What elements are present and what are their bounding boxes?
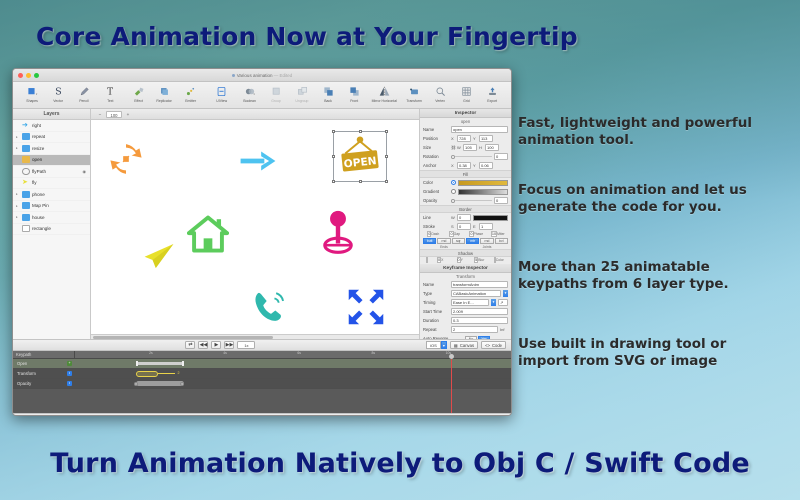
toolbar-button-ungroup[interactable]: Ungroup xyxy=(289,84,315,103)
effect-icon xyxy=(133,84,145,98)
marketing-bullet-3: More than 25 animatablekeypaths from 6 l… xyxy=(518,259,729,292)
kf-row-name: Name transformAnim xyxy=(420,280,511,289)
toolbar-label: Pencil xyxy=(79,99,88,103)
line-w-axis: W xyxy=(451,215,455,220)
replicator-icon xyxy=(159,84,170,98)
timeline-row-label: Open xyxy=(17,361,27,366)
ends-caption: Ends xyxy=(423,245,465,249)
toolbar-label: Back xyxy=(324,99,332,103)
chevron-down-icon[interactable]: ▾ xyxy=(491,299,496,306)
toolbar-button-group[interactable]: Group xyxy=(263,84,289,103)
status-bar: Total Duration: 16 mins 40.0 secs Presen… xyxy=(13,413,511,416)
rotation-field[interactable]: 0 xyxy=(494,153,508,160)
rewind-button[interactable]: ◀◀ xyxy=(198,341,208,349)
layer-item-right[interactable]: ➔ right xyxy=(13,120,90,132)
inspector-row-anchor: Anchor X 0.38 Y 0.06 xyxy=(420,161,511,170)
toolbar-button-effect[interactable]: Effect xyxy=(126,84,152,103)
ruler-mark: 8s xyxy=(371,351,375,355)
marketing-bullet-4: Use built in drawing tool orimport from … xyxy=(518,336,726,369)
stroke-e-axis: E xyxy=(473,224,477,229)
play-button[interactable]: ▶ xyxy=(211,341,221,349)
kf-auto-reverse-label: Auto Reverse xyxy=(423,336,463,339)
layer-item-fly[interactable]: ➤ fly xyxy=(13,178,90,190)
forward-button[interactable]: ▶▶ xyxy=(224,341,234,349)
lock-icon xyxy=(22,156,30,163)
selection-box xyxy=(333,131,387,182)
keypath-column-header: Keypath xyxy=(13,351,75,358)
grid-icon xyxy=(461,84,472,98)
border-caps-joints-row: butt rnd sqr mtr rnd bvl xyxy=(420,237,511,245)
axis-y-label: Y xyxy=(473,136,477,141)
keyframe-badge[interactable]: • xyxy=(67,381,72,386)
mirror-horizontal-icon xyxy=(378,84,391,98)
inspector-row-position: Position X 728 Y 113 xyxy=(420,134,511,143)
open-sign-shape[interactable]: OPEN xyxy=(337,134,383,179)
toolbar-group-tools: Transform Vertex Grid Export xyxy=(401,84,505,103)
window-titlebar: Various animation — Edited xyxy=(13,69,511,82)
bottom-headline: Turn Animation Natively to Obj C / Swift… xyxy=(0,448,800,479)
layer-label: phone xyxy=(32,192,45,197)
transform-icon xyxy=(409,84,420,98)
layers-panel: Layers ➔ right ▸ repeat ▸ resize open xyxy=(13,109,91,339)
toolbar-group-effects: Effect Replicator Emitter xyxy=(126,84,204,103)
shadow-x-caption: X xyxy=(441,258,443,262)
shadow-y-stepper[interactable]: 0Y xyxy=(451,257,470,263)
export-icon xyxy=(487,84,498,98)
keyframe-inspector-header: Keyframe Inspector xyxy=(420,264,511,273)
code-icon: <> xyxy=(485,342,490,349)
toolbar-button-pencil[interactable]: Pencil xyxy=(71,84,97,103)
stroke-s-axis: S xyxy=(451,224,455,229)
arrow-layer-icon: ➔ xyxy=(22,122,30,129)
toolbar-label: Front xyxy=(350,99,358,103)
border-color-swatch[interactable] xyxy=(473,215,508,221)
joint-round[interactable]: rnd xyxy=(480,238,493,244)
size-h-field[interactable]: 100 xyxy=(485,144,499,151)
timeline-header: Keypath 2s 4s 6s 8s 10s xyxy=(13,351,511,359)
toolbar-label: Emitter xyxy=(185,99,196,103)
miter-stepper[interactable]: 10Miter xyxy=(488,231,509,237)
toolbar-label: Replicator xyxy=(157,99,172,103)
layer-label: resize xyxy=(32,146,44,151)
toolbar-button-emitter[interactable]: Emitter xyxy=(178,84,204,103)
size-w-field[interactable]: 105 xyxy=(463,144,477,151)
position-y-field[interactable]: 113 xyxy=(479,135,493,142)
add-keyframe-badge[interactable]: + xyxy=(67,361,72,366)
inspector-row-rotation: Rotation 0 xyxy=(420,152,511,161)
disclosure-icon[interactable]: ▸ xyxy=(16,146,20,150)
gradient-radio[interactable] xyxy=(451,189,456,194)
opacity-slider[interactable] xyxy=(451,198,492,203)
kf-timing-select[interactable]: Ease In E... xyxy=(451,299,489,306)
keyframe-badge[interactable]: • xyxy=(67,371,72,376)
rotation-slider[interactable] xyxy=(451,154,492,159)
inspector-row-stroke: Stroke S 0 E 1 xyxy=(420,222,511,231)
anchor-y-field[interactable]: 0.06 xyxy=(479,162,493,169)
toolbar-group-arrange: Boolean Group Ungroup Back xyxy=(237,84,401,103)
phase-caption: Phase xyxy=(474,232,484,236)
gap-caption: Gap xyxy=(454,232,460,236)
loop-button[interactable]: ⇄ xyxy=(185,341,195,349)
canvas-button-label: Canvas xyxy=(460,342,474,349)
axis-x-label: X xyxy=(451,163,455,168)
toolbar-button-back[interactable]: Back xyxy=(315,84,341,103)
layer-item-house[interactable]: ▸ house xyxy=(13,212,90,224)
main-content: Layers ➔ right ▸ repeat ▸ resize open xyxy=(13,109,511,339)
zoom-value[interactable]: 100 xyxy=(106,111,122,118)
kf-duration-label: Duration xyxy=(423,318,449,323)
shadow-enable-checkbox[interactable] xyxy=(423,257,430,263)
phone-shape[interactable] xyxy=(251,288,291,327)
right-arrow-shape[interactable] xyxy=(239,148,277,175)
vertex-icon xyxy=(435,84,446,98)
end-cap-round[interactable]: rnd xyxy=(437,238,450,244)
timeline-track[interactable]: ◦ ◦ xyxy=(75,379,511,388)
house-shape[interactable] xyxy=(187,214,229,255)
ruler-mark: 6s xyxy=(297,351,301,355)
toolbar-button-transform[interactable]: Transform xyxy=(401,84,427,103)
toolbar-button-vector[interactable]: S Vector xyxy=(45,84,71,103)
chevron-down-icon[interactable]: ▾ xyxy=(441,341,447,349)
toolbar-button-text[interactable]: T Text xyxy=(97,84,123,103)
name-label: Name xyxy=(423,127,449,132)
toolbar-button-boolean[interactable]: Boolean xyxy=(237,84,263,103)
zoom-in-button[interactable]: + xyxy=(125,112,131,117)
layer-item-map-pin[interactable]: ▸ Map Pin xyxy=(13,201,90,213)
kf-repeat-label: Repeat xyxy=(423,327,449,332)
map-pin-shape[interactable] xyxy=(323,208,353,257)
kf-timing-label: Timing xyxy=(423,300,449,305)
design-canvas[interactable]: OPEN xyxy=(91,120,419,339)
kf-name-label: Name xyxy=(423,282,449,287)
toolbar-button-front[interactable]: Front xyxy=(341,84,367,103)
folder-icon xyxy=(22,191,30,198)
timeline-row-name: Opacity • xyxy=(13,381,75,386)
kf-type-label: Type xyxy=(423,291,449,296)
size-label: Size xyxy=(423,145,449,150)
layer-label: open xyxy=(32,157,42,162)
layer-item-flypath[interactable]: flyPath ◉ xyxy=(13,166,90,178)
folder-icon xyxy=(22,202,30,209)
ungroup-icon xyxy=(297,84,308,98)
toolbar-button-uiview[interactable]: UIView xyxy=(209,84,235,103)
stroke-start-field[interactable]: 0 xyxy=(457,223,471,230)
toolbar-label: Text xyxy=(107,99,113,103)
repeat-arrows-shape[interactable] xyxy=(109,142,143,177)
timeline-track[interactable] xyxy=(75,359,511,368)
inspector-row-name: Name open xyxy=(420,125,511,134)
boolean-icon xyxy=(244,84,256,98)
fill-color-swatch[interactable] xyxy=(458,180,508,186)
toolbar-label: UIView xyxy=(216,99,227,103)
keyframe-dot[interactable]: ◦ xyxy=(180,382,184,386)
toolbar-button-replicator[interactable]: Replicator xyxy=(152,84,178,103)
end-cap-square[interactable]: sqr xyxy=(452,238,465,244)
border-captions: Ends Joints xyxy=(420,245,511,249)
timeline-span-bar[interactable] xyxy=(136,362,184,365)
color-label: Color xyxy=(423,180,449,185)
playhead[interactable] xyxy=(451,359,452,413)
kf-row-duration: Duration 0.3 xyxy=(420,316,511,325)
axis-w-label: W xyxy=(457,145,461,150)
canvas-column: − 100 + xyxy=(91,109,419,339)
timeline-track[interactable]: 2 xyxy=(75,369,511,378)
kf-row-timing: Timing Ease In E... ▾ ↗ xyxy=(420,298,511,307)
dash-stepper[interactable]: 0Dash xyxy=(423,231,444,237)
kf-row-start-time: Start Time 2.009 xyxy=(420,307,511,316)
axis-x-label: X xyxy=(451,136,455,141)
rotation-label: Rotation xyxy=(423,154,449,159)
disclosure-icon[interactable]: ▸ xyxy=(16,192,20,196)
kf-type-select[interactable]: CABasicAnimation xyxy=(451,290,501,297)
svg-text:T: T xyxy=(107,87,113,97)
axis-h-label: H xyxy=(479,145,483,150)
timeline-ruler[interactable]: 2s 4s 6s 8s 10s xyxy=(75,351,511,358)
shadow-color-caption: Color xyxy=(496,258,504,262)
toolbar-label: Effect xyxy=(134,99,143,103)
position-label: Position xyxy=(423,136,449,141)
window-title: Various animation — Edited xyxy=(13,73,511,78)
shadow-row: 0X 0Y 5Blur Color xyxy=(420,257,511,263)
keyframe-dot[interactable]: ◦ xyxy=(134,382,138,386)
layer-label: flyPath xyxy=(32,169,46,174)
toolbar-label: Mirror Horizontal xyxy=(371,99,396,103)
inspector-subject: open xyxy=(420,118,511,125)
stroke-label: Stroke xyxy=(423,224,449,229)
timeline-panel: Keypath 2s 4s 6s 8s 10s Open + Trans xyxy=(13,351,511,413)
layers-header: Layers xyxy=(13,109,90,120)
toolbar-button-export[interactable]: Export xyxy=(479,84,505,103)
layer-item-repeat[interactable]: ▸ repeat xyxy=(13,132,90,144)
disclosure-icon[interactable]: ▸ xyxy=(16,215,20,219)
fly-icon: ➤ xyxy=(22,179,30,186)
keyframe-marker[interactable] xyxy=(136,371,158,377)
inspector-header: Inspector xyxy=(420,109,511,118)
layer-item-resize[interactable]: ▸ resize xyxy=(13,143,90,155)
gradient-label: Gradient xyxy=(423,189,449,194)
opacity-span-bar[interactable] xyxy=(136,381,184,386)
phase-stepper[interactable]: 0Phase xyxy=(466,231,487,237)
kf-row-type: Type CABasicAnimation ▾ xyxy=(420,289,511,298)
folder-icon xyxy=(22,133,30,140)
dash-caption: Dash xyxy=(431,232,439,236)
timeline-row-transform[interactable]: Transform • 2 xyxy=(13,369,511,379)
app-window: Various animation — Edited Shapes S Vect… xyxy=(12,68,512,416)
inspector-row-size: Size ⛓ W 105 H 100 xyxy=(420,143,511,152)
resize-arrows-shape[interactable] xyxy=(347,288,385,327)
toolbar-group-uiview: UIView xyxy=(209,84,235,103)
platform-select[interactable]: iOS ▾ xyxy=(426,341,447,349)
timing-curve-button[interactable]: ↗ xyxy=(498,299,508,306)
inspector-panel: Inspector open Name open Position X 728 … xyxy=(419,109,511,339)
border-section-header: Border xyxy=(420,205,511,213)
speed-select[interactable]: 1x xyxy=(237,341,255,349)
canvas-horizontal-scrollbar[interactable] xyxy=(91,334,419,339)
shadow-blur-caption: Blur xyxy=(478,258,484,262)
toolbar-button-grid[interactable]: Grid xyxy=(453,84,479,103)
toolbar-button-vertex[interactable]: Vertex xyxy=(427,84,453,103)
auto-reverse-no[interactable]: No xyxy=(465,336,477,340)
inspector-row-color: Color xyxy=(420,178,511,187)
line-width-field[interactable]: 0 xyxy=(457,214,471,221)
toolbar-label: Ungroup xyxy=(295,99,308,103)
group-icon xyxy=(271,84,282,98)
anchor-x-field[interactable]: 0.38 xyxy=(457,162,471,169)
toolbar-button-mirror-horizontal[interactable]: Mirror Horizontal xyxy=(367,84,401,103)
anchor-label: Anchor xyxy=(423,163,449,168)
inspector-row-opacity: Opacity 0 xyxy=(420,196,511,205)
shadow-section-header: Shadow xyxy=(420,249,511,257)
shadow-x-stepper[interactable]: 0X xyxy=(431,257,450,263)
kf-row-auto-reverse: Auto Reverse No Yes xyxy=(420,334,511,339)
toolbar-label: Vertex xyxy=(435,99,445,103)
timeline-row-opacity[interactable]: Opacity • ◦ ◦ xyxy=(13,379,511,389)
uiview-icon xyxy=(216,84,227,98)
kf-repeat-inf-label[interactable]: Inf xyxy=(500,327,508,332)
auto-reverse-yes[interactable]: Yes xyxy=(478,336,490,340)
folder-icon xyxy=(22,145,30,152)
canvas-icon: ▦ xyxy=(454,342,458,349)
eye-icon[interactable]: ◉ xyxy=(83,169,87,174)
name-field[interactable]: open xyxy=(451,126,508,133)
code-button-label: Code xyxy=(492,342,502,349)
timeline-row-label: Transform xyxy=(17,371,36,376)
marketing-bullet-1: Fast, lightweight and powerfulanimation … xyxy=(518,115,752,148)
line-label: Line xyxy=(423,215,449,220)
disclosure-icon[interactable]: ▸ xyxy=(16,204,20,208)
ruler-mark: 2s xyxy=(149,351,153,355)
toolbar-label: Boolean xyxy=(244,99,257,103)
toolbar-label: Grid xyxy=(463,99,469,103)
layer-label: right xyxy=(32,123,41,128)
window-edited-state: — Edited xyxy=(274,73,293,78)
disclosure-icon[interactable]: ▸ xyxy=(16,135,20,139)
transport-bar: ⇄ ◀◀ ▶ ▶▶ 1x iOS ▾ ▦ Canvas <> Code xyxy=(13,339,511,351)
toolbar-label: Group xyxy=(271,99,281,103)
inspector-row-line: Line W 0 xyxy=(420,213,511,222)
timeline-row-name: Transform • xyxy=(13,371,75,376)
color-radio[interactable] xyxy=(451,180,456,185)
ruler-mark: 4s xyxy=(223,351,227,355)
kf-repeat-field[interactable]: 2 xyxy=(451,326,498,333)
top-headline: Core Animation Now at Your Fingertip xyxy=(0,22,800,51)
kf-start-time-field[interactable]: 2.009 xyxy=(451,308,508,315)
repeat-count-label: 2 xyxy=(177,371,179,375)
layer-label: Map Pin xyxy=(32,203,49,208)
joints-caption: Joints xyxy=(466,245,508,249)
folder-icon xyxy=(22,214,30,221)
auto-reverse-toggle[interactable]: No Yes xyxy=(465,336,490,340)
joint-miter[interactable]: mtr xyxy=(466,238,479,244)
window-title-text: Various animation xyxy=(237,73,273,78)
stroke-end-field[interactable]: 1 xyxy=(479,223,493,230)
layer-item-open[interactable]: open xyxy=(13,155,90,167)
layer-label: repeat xyxy=(32,134,45,139)
text-t-icon: T xyxy=(105,84,116,98)
paper-plane-shape[interactable] xyxy=(143,242,175,271)
toolbar-label: Export xyxy=(487,99,497,103)
timeline-row-name: Open + xyxy=(13,361,75,366)
end-cap-butt[interactable]: butt xyxy=(423,238,436,244)
miter-caption: Miter xyxy=(497,232,505,236)
keyframe-link-line xyxy=(158,373,175,374)
canvas-button[interactable]: ▦ Canvas xyxy=(450,341,478,349)
zoom-bar: − 100 + xyxy=(91,109,419,120)
emitter-icon xyxy=(185,84,196,98)
platform-value: iOS xyxy=(426,341,441,349)
layer-item-phone[interactable]: ▸ phone xyxy=(13,189,90,201)
axis-y-label: Y xyxy=(473,163,477,168)
marketing-bullet-2: Focus on animation and let usgenerate th… xyxy=(518,182,747,215)
timeline-row-label: Opacity xyxy=(17,381,31,386)
layer-label: fly xyxy=(32,180,37,185)
gradient-swatch[interactable] xyxy=(458,189,508,195)
zoom-out-button[interactable]: − xyxy=(97,112,103,117)
layer-label: house xyxy=(32,215,45,220)
aspect-lock-icon[interactable]: ⛓ xyxy=(451,145,455,150)
joint-bevel[interactable]: bvl xyxy=(495,238,508,244)
timeline-row-open[interactable]: Open + xyxy=(13,359,511,369)
vector-s-icon: S xyxy=(53,84,64,98)
rect-icon xyxy=(22,225,30,232)
shadow-color-swatch[interactable]: Color xyxy=(490,257,509,263)
layer-item-rectangle[interactable]: rectangle xyxy=(13,224,90,236)
kf-duration-field[interactable]: 0.3 xyxy=(451,317,508,324)
keyframe-inspector-subject: Transform xyxy=(420,273,511,280)
position-x-field[interactable]: 728 xyxy=(457,135,471,142)
code-button[interactable]: <> Code xyxy=(481,341,506,349)
path-icon xyxy=(22,168,30,175)
opacity-label: Opacity xyxy=(423,198,449,203)
chevron-down-icon[interactable]: ▾ xyxy=(503,290,508,297)
toolbar-label: Transform xyxy=(406,99,421,103)
svg-text:S: S xyxy=(55,86,62,97)
gap-stepper[interactable]: 0Gap xyxy=(445,231,466,237)
main-toolbar: Shapes S Vector Pencil T Text xyxy=(13,82,511,109)
square-icon xyxy=(27,84,38,98)
toolbar-label: Vector xyxy=(53,99,63,103)
send-back-icon xyxy=(323,84,334,98)
inspector-row-gradient: Gradient xyxy=(420,187,511,196)
bring-front-icon xyxy=(349,84,360,98)
toolbar-label: Shapes xyxy=(26,99,38,103)
shadow-blur-stepper[interactable]: 5Blur xyxy=(470,257,489,263)
kf-start-time-label: Start Time xyxy=(423,309,449,314)
shadow-y-caption: Y xyxy=(461,258,463,262)
layer-label: rectangle xyxy=(32,226,51,231)
pencil-icon xyxy=(79,84,90,98)
opacity-field[interactable]: 0 xyxy=(494,197,508,204)
fill-section-header: Fill xyxy=(420,170,511,178)
border-dash-row: 0Dash 0Gap 0Phase 10Miter xyxy=(420,231,511,237)
document-proxy-icon xyxy=(232,74,235,77)
toolbar-group-create: Shapes S Vector Pencil T Text xyxy=(19,84,123,103)
kf-name-field[interactable]: transformAnim xyxy=(451,281,508,288)
kf-row-repeat: Repeat 2 Inf xyxy=(420,325,511,334)
toolbar-button-shapes[interactable]: Shapes xyxy=(19,84,45,103)
